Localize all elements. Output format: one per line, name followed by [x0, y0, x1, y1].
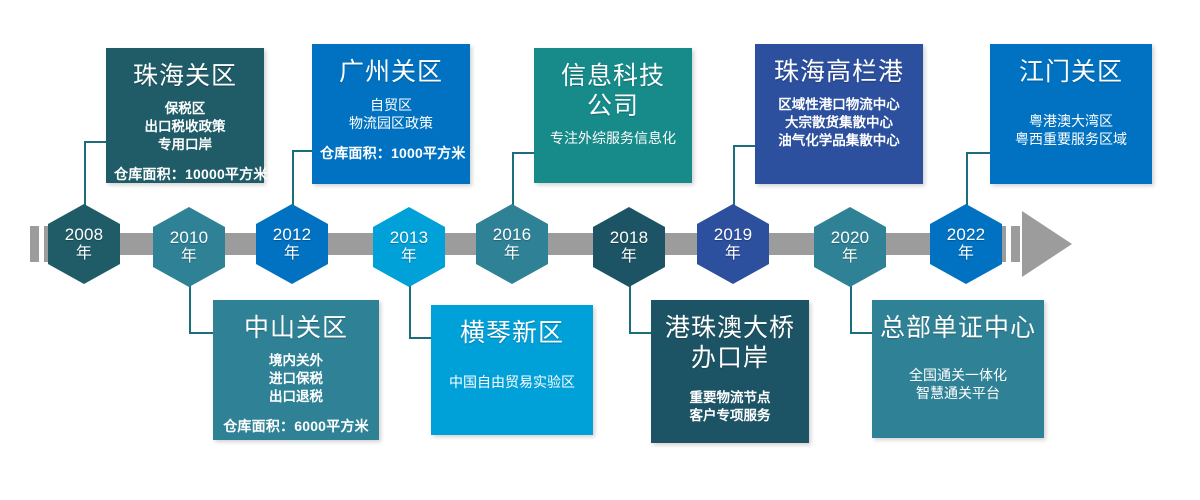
- node-year-suffix: 年: [284, 245, 300, 262]
- card-bullet: 粤港澳大湾区: [998, 112, 1144, 131]
- card-title: 江门关区: [998, 58, 1144, 88]
- card-bullet: 出口退税: [221, 388, 371, 406]
- node-year-suffix: 年: [725, 245, 741, 262]
- card-title-line: 信息科技: [542, 62, 684, 92]
- node-year-label: 2018: [610, 229, 649, 247]
- card-title-line: 港珠澳大桥: [659, 314, 801, 344]
- timeline-left-tick-outer: [30, 226, 39, 262]
- node-year-label: 2022: [947, 226, 986, 244]
- timeline-node-2013[interactable]: 2013 年: [373, 207, 445, 287]
- timeline-node-2016[interactable]: 2016 年: [476, 204, 548, 284]
- node-year-suffix: 年: [401, 248, 417, 265]
- card-bullet: 保税区: [114, 100, 256, 118]
- node-year-label: 2019: [714, 226, 753, 244]
- card-zhuhai-customs[interactable]: 珠海关区 保税区 出口税收政策 专用口岸 仓库面积：10000平方米: [106, 48, 264, 183]
- node-year-label: 2016: [493, 226, 532, 244]
- timeline-node-2022[interactable]: 2022 年: [930, 204, 1002, 284]
- card-jiangmen-customs[interactable]: 江门关区 粤港澳大湾区 粤西重要服务区域: [990, 44, 1152, 184]
- node-year-label: 2012: [273, 226, 312, 244]
- connector-2022-horizontal: [966, 152, 990, 154]
- timeline-node-2012[interactable]: 2012 年: [256, 204, 328, 284]
- card-hzm-bridge-port[interactable]: 港珠澳大桥 办口岸 重要物流节点 客户专项服务: [651, 300, 809, 443]
- card-hq-document-center[interactable]: 总部单证中心 全国通关一体化 智慧通关平台: [872, 300, 1044, 438]
- card-title: 横琴新区: [439, 319, 585, 349]
- card-bullet: 进口保税: [221, 370, 371, 388]
- timeline-node-2019[interactable]: 2019 年: [697, 204, 769, 284]
- card-title: 中山关区: [221, 314, 371, 344]
- card-bullet: 境内关外: [221, 352, 371, 370]
- card-bullet: 自贸区: [320, 96, 462, 115]
- node-year-suffix: 年: [621, 248, 637, 265]
- node-year-suffix: 年: [958, 245, 974, 262]
- card-bullets: 中国自由贸易实验区: [439, 373, 585, 392]
- card-info-tech-company[interactable]: 信息科技 公司 专注外综服务信息化: [534, 48, 692, 183]
- card-bullet: 专注外综服务信息化: [542, 129, 684, 148]
- connector-2013-horizontal: [409, 337, 431, 339]
- card-bullets: 重要物流节点 客户专项服务: [659, 389, 801, 425]
- timeline-node-2018[interactable]: 2018 年: [593, 207, 665, 287]
- timeline-node-2008[interactable]: 2008 年: [48, 204, 120, 284]
- card-title: 广州关区: [320, 58, 462, 88]
- card-title: 珠海高栏港: [763, 58, 915, 88]
- card-title-line: 公司: [542, 92, 684, 122]
- connector-2012-horizontal: [292, 150, 312, 152]
- card-bullet: 全国通关一体化: [880, 366, 1036, 385]
- node-year-label: 2010: [170, 229, 209, 247]
- card-bullet: 物流园区政策: [320, 114, 462, 133]
- timeline-right-tick-outer: [1011, 226, 1020, 262]
- card-bullet: 中国自由贸易实验区: [439, 373, 585, 392]
- card-hengqin-new-area[interactable]: 横琴新区 中国自由贸易实验区: [431, 305, 593, 435]
- card-zhongshan-customs[interactable]: 中山关区 境内关外 进口保税 出口退税 仓库面积：6000平方米: [213, 300, 379, 440]
- card-bullets: 区域性港口物流中心 大宗散货集散中心 油气化学品集散中心: [763, 96, 915, 150]
- timeline-infographic: 2008 年 2010 年 2012 年 2013 年 2016 年 2018 …: [0, 0, 1200, 500]
- connector-2019-horizontal: [733, 145, 755, 147]
- card-guangzhou-customs[interactable]: 广州关区 自贸区 物流园区政策 仓库面积：1000平方米: [312, 44, 470, 184]
- card-bullets: 保税区 出口税收政策 专用口岸: [114, 100, 256, 154]
- card-title: 港珠澳大桥 办口岸: [659, 314, 801, 373]
- card-note: 仓库面积：1000平方米: [320, 143, 462, 163]
- node-year-label: 2020: [831, 229, 870, 247]
- node-year-suffix: 年: [181, 248, 197, 265]
- connector-2016-horizontal: [512, 152, 534, 154]
- card-bullet: 大宗散货集散中心: [763, 114, 915, 132]
- card-title: 信息科技 公司: [542, 62, 684, 121]
- card-note: 仓库面积：6000平方米: [221, 416, 371, 436]
- timeline-node-2020[interactable]: 2020 年: [814, 207, 886, 287]
- connector-2020-horizontal: [850, 332, 872, 334]
- node-year-label: 2008: [65, 226, 104, 244]
- card-note: 仓库面积：10000平方米: [114, 164, 256, 184]
- arrow-right-icon: [1022, 211, 1072, 277]
- card-title: 珠海关区: [114, 62, 256, 92]
- card-bullet: 客户专项服务: [659, 407, 801, 425]
- card-title-line: 办口岸: [659, 344, 801, 374]
- card-bullets: 专注外综服务信息化: [542, 129, 684, 148]
- card-bullets: 粤港澳大湾区 粤西重要服务区域: [998, 112, 1144, 150]
- node-year-suffix: 年: [842, 248, 858, 265]
- node-year-label: 2013: [390, 229, 429, 247]
- card-zhuhai-gaolan-port[interactable]: 珠海高栏港 区域性港口物流中心 大宗散货集散中心 油气化学品集散中心: [755, 44, 923, 184]
- connector-2008-horizontal: [84, 141, 106, 143]
- card-bullets: 全国通关一体化 智慧通关平台: [880, 366, 1036, 404]
- card-bullet: 粤西重要服务区域: [998, 130, 1144, 149]
- connector-2018-horizontal: [629, 332, 651, 334]
- card-bullets: 自贸区 物流园区政策: [320, 96, 462, 134]
- node-year-suffix: 年: [504, 245, 520, 262]
- card-bullets: 境内关外 进口保税 出口退税: [221, 352, 371, 406]
- card-bullet: 油气化学品集散中心: [763, 132, 915, 150]
- card-bullet: 区域性港口物流中心: [763, 96, 915, 114]
- connector-2010-horizontal: [189, 332, 213, 334]
- card-bullet: 智慧通关平台: [880, 384, 1036, 403]
- card-bullet: 出口税收政策: [114, 118, 256, 136]
- timeline-node-2010[interactable]: 2010 年: [153, 207, 225, 287]
- card-bullet: 专用口岸: [114, 136, 256, 154]
- card-bullet: 重要物流节点: [659, 389, 801, 407]
- card-title: 总部单证中心: [880, 314, 1036, 344]
- node-year-suffix: 年: [76, 245, 92, 262]
